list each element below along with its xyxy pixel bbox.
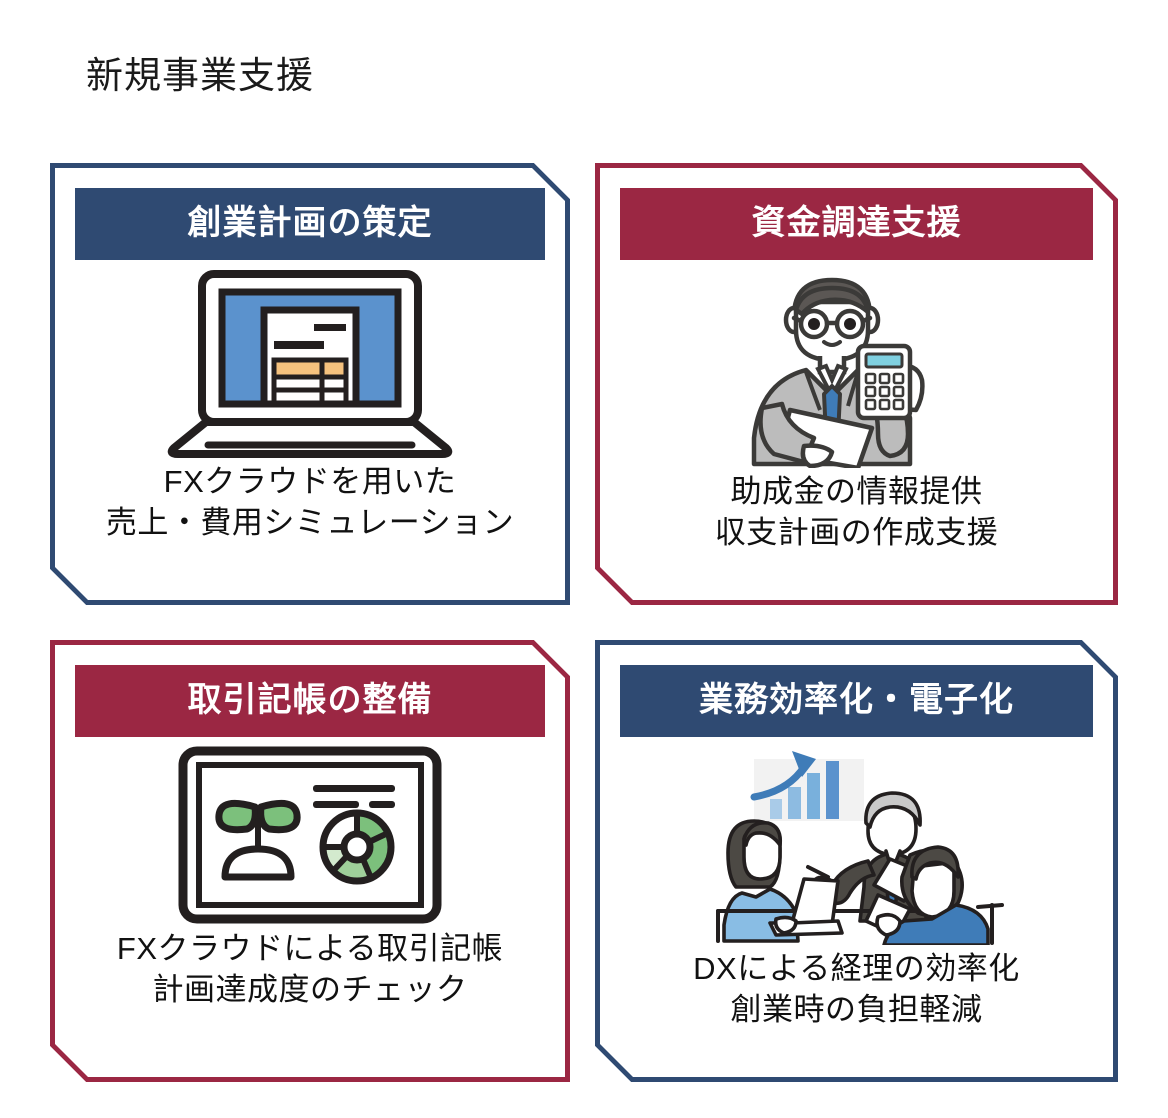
sprout-donut-chart-icon — [175, 745, 445, 925]
laptop-document-icon — [160, 268, 460, 458]
service-card[interactable]: 取引記帳の整備 — [50, 640, 570, 1082]
service-card[interactable]: 業務効率化・電子化 — [595, 640, 1118, 1082]
service-card-grid: 創業計画の策定 — [0, 0, 1168, 1118]
card-header-title: 取引記帳の整備 — [75, 665, 545, 737]
service-card[interactable]: 資金調達支援 — [595, 163, 1118, 605]
card-header-title: 資金調達支援 — [620, 188, 1093, 260]
card-body-text: DXによる経理の効率化 創業時の負担軽減 — [693, 949, 1020, 1031]
meeting-growth-chart-icon — [692, 745, 1022, 945]
businessman-calculator-icon — [732, 268, 982, 468]
card-header-title: 創業計画の策定 — [75, 188, 545, 260]
card-body-text: 助成金の情報提供 収支計画の作成支援 — [715, 472, 999, 554]
card-header-title: 業務効率化・電子化 — [620, 665, 1093, 737]
card-body-text: FXクラウドによる取引記帳 計画達成度のチェック — [117, 929, 503, 1011]
card-body-text: FXクラウドを用いた 売上・費用シミュレーション — [106, 462, 514, 544]
service-card[interactable]: 創業計画の策定 — [50, 163, 570, 605]
